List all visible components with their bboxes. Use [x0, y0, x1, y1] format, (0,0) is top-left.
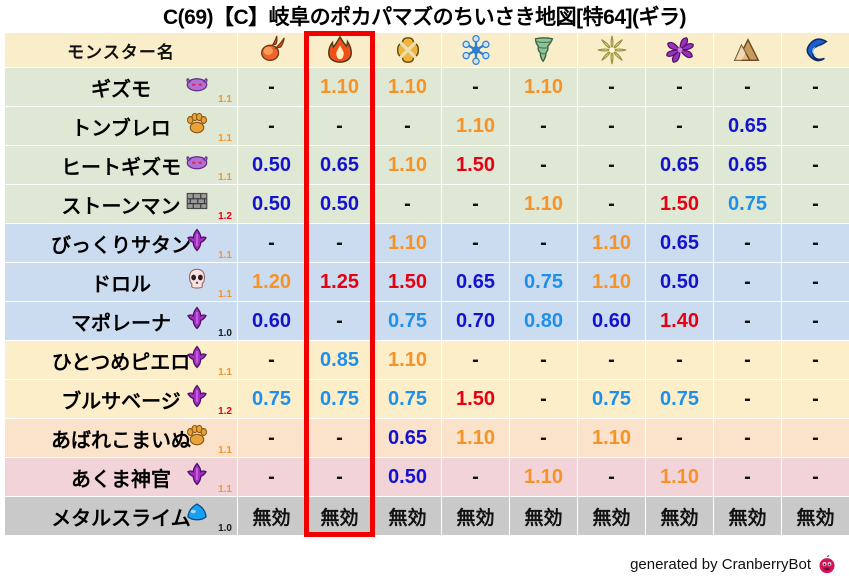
- resist-cell: -: [306, 224, 373, 262]
- resist-cell: 0.60: [578, 302, 645, 340]
- monster-name-cell[interactable]: ひとつめピエロ1.1: [5, 341, 237, 379]
- resist-cell: 1.25: [306, 263, 373, 301]
- resist-cell: 無効: [510, 497, 577, 535]
- resist-cell: 0.80: [510, 302, 577, 340]
- brick-icon: [185, 189, 209, 213]
- resist-cell: -: [442, 341, 509, 379]
- resist-cell: -: [238, 341, 305, 379]
- resist-cell: -: [238, 224, 305, 262]
- wave-icon: [801, 35, 831, 65]
- resist-cell: -: [306, 107, 373, 145]
- monster-name-label: ギズモ: [91, 79, 151, 101]
- resist-cell: 1.10: [374, 341, 441, 379]
- monster-name-cell[interactable]: ブルサベージ1.2: [5, 380, 237, 418]
- monster-version-label: 1.1: [218, 134, 232, 144]
- cranberry-icon: [817, 554, 837, 574]
- resist-cell: 1.40: [646, 302, 713, 340]
- resist-cell: -: [238, 68, 305, 106]
- table-row[interactable]: びっくりサタン1.1--1.10--1.100.65--: [5, 224, 849, 262]
- monster-name-label: びっくりサタン: [51, 235, 191, 257]
- resist-cell: 0.75: [714, 185, 781, 223]
- resist-cell: 1.10: [510, 458, 577, 496]
- monster-name-cell[interactable]: あくま神官1.1: [5, 458, 237, 496]
- resist-cell: -: [578, 68, 645, 106]
- footer: generated by CranberryBot: [630, 551, 837, 577]
- monster-name-cell[interactable]: マポレーナ1.0: [5, 302, 237, 340]
- resist-cell: -: [578, 107, 645, 145]
- monster-name-cell[interactable]: トンブレロ1.1: [5, 107, 237, 145]
- resist-cell: -: [646, 107, 713, 145]
- resist-cell: -: [578, 341, 645, 379]
- monster-name-label: メタルスライム: [51, 508, 191, 530]
- resist-cell: 無効: [714, 497, 781, 535]
- table-row[interactable]: ギズモ1.1-1.101.10-1.10----: [5, 68, 849, 106]
- resist-cell: -: [646, 419, 713, 457]
- resist-cell: -: [782, 263, 849, 301]
- table-row[interactable]: あくま神官1.1--0.50-1.10-1.10--: [5, 458, 849, 496]
- resist-cell: 1.10: [578, 224, 645, 262]
- mountain-icon: [733, 35, 763, 65]
- header-element-2[interactable]: [374, 33, 441, 67]
- resist-cell: -: [238, 419, 305, 457]
- demon-icon: [185, 384, 209, 408]
- resist-cell: -: [782, 146, 849, 184]
- resist-cell: 0.75: [374, 302, 441, 340]
- resist-cell: 0.50: [238, 146, 305, 184]
- resist-cell: -: [306, 302, 373, 340]
- resist-cell: 0.65: [374, 419, 441, 457]
- monster-name-cell[interactable]: びっくりサタン1.1: [5, 224, 237, 262]
- resist-cell: 0.50: [374, 458, 441, 496]
- resist-cell: -: [306, 458, 373, 496]
- resist-cell: 1.50: [374, 263, 441, 301]
- resist-cell: -: [782, 224, 849, 262]
- monster-version-label: 1.1: [218, 290, 232, 300]
- header-element-7[interactable]: [714, 33, 781, 67]
- resist-cell: -: [238, 107, 305, 145]
- header-element-3[interactable]: [442, 33, 509, 67]
- monster-name-cell[interactable]: ドロル1.1: [5, 263, 237, 301]
- resist-cell: 0.65: [306, 146, 373, 184]
- resist-cell: -: [782, 419, 849, 457]
- resist-cell: -: [442, 458, 509, 496]
- demon-icon: [185, 228, 209, 252]
- resist-cell: -: [510, 224, 577, 262]
- resist-cell: -: [782, 380, 849, 418]
- resist-cell: -: [510, 419, 577, 457]
- monster-version-label: 1.1: [218, 368, 232, 378]
- resist-cell: 無効: [646, 497, 713, 535]
- resist-cell: 0.65: [442, 263, 509, 301]
- resist-cell: -: [714, 224, 781, 262]
- header-element-1[interactable]: [306, 33, 373, 67]
- resist-cell: 1.10: [510, 68, 577, 106]
- table-row[interactable]: マポレーナ1.00.60-0.750.700.800.601.40--: [5, 302, 849, 340]
- fireball-icon: [257, 35, 287, 65]
- resist-cell: 1.10: [646, 458, 713, 496]
- monster-name-label: ひとつめピエロ: [52, 352, 191, 374]
- monster-name-cell[interactable]: メタルスライム1.0: [5, 497, 237, 535]
- resist-cell: 1.10: [374, 224, 441, 262]
- monster-name-label: マポレーナ: [71, 313, 171, 335]
- monster-version-label: 1.2: [218, 212, 232, 222]
- resist-cell: 0.75: [374, 380, 441, 418]
- monster-name-label: トンブレロ: [71, 118, 170, 140]
- resist-cell: -: [442, 185, 509, 223]
- demon-icon: [185, 462, 209, 486]
- resist-cell: -: [510, 146, 577, 184]
- resist-cell: 0.65: [646, 224, 713, 262]
- gizmo-icon: [185, 150, 209, 174]
- monster-version-label: 1.0: [218, 329, 232, 339]
- monster-name-label: あばれこまいぬ: [51, 430, 191, 452]
- resist-cell: -: [510, 380, 577, 418]
- resist-cell: 1.10: [374, 146, 441, 184]
- footer-text: generated by CranberryBot: [630, 556, 811, 573]
- pinwheel-icon: [665, 35, 695, 65]
- resist-cell: -: [714, 458, 781, 496]
- resist-cell: 0.60: [238, 302, 305, 340]
- resist-cell: 1.50: [646, 185, 713, 223]
- resist-cell: -: [510, 341, 577, 379]
- table-row[interactable]: ドロル1.11.201.251.500.650.751.100.50--: [5, 263, 849, 301]
- flame-icon: [325, 35, 355, 65]
- resist-cell: 0.85: [306, 341, 373, 379]
- paw-icon: [185, 111, 209, 135]
- monster-name-label: ブルサベージ: [61, 391, 181, 413]
- resist-cell: -: [782, 107, 849, 145]
- resist-cell: 0.75: [646, 380, 713, 418]
- resist-cell: -: [782, 302, 849, 340]
- resist-cell: 無効: [578, 497, 645, 535]
- monster-name-label: ヒートギズモ: [61, 157, 181, 179]
- monster-version-label: 1.1: [218, 485, 232, 495]
- header-element-0[interactable]: [238, 33, 305, 67]
- resist-cell: -: [374, 185, 441, 223]
- resist-cell: 0.75: [578, 380, 645, 418]
- monster-version-label: 1.1: [218, 251, 232, 261]
- resist-cell: -: [646, 68, 713, 106]
- resist-cell: 0.65: [714, 146, 781, 184]
- resist-cell: 0.50: [238, 185, 305, 223]
- snowflake-icon: [461, 35, 491, 65]
- monster-version-label: 1.1: [218, 446, 232, 456]
- resist-cell: -: [714, 341, 781, 379]
- monster-name-cell[interactable]: ヒートギズモ1.1: [5, 146, 237, 184]
- table-row[interactable]: ブルサベージ1.20.750.750.751.50-0.750.75--: [5, 380, 849, 418]
- monster-version-label: 1.1: [218, 95, 232, 105]
- resist-cell: -: [714, 68, 781, 106]
- resist-cell: 1.10: [374, 68, 441, 106]
- table-row[interactable]: ヒートギズモ1.10.500.651.101.50--0.650.65-: [5, 146, 849, 184]
- paw-icon: [185, 423, 209, 447]
- explosion-icon: [393, 35, 423, 65]
- monster-name-cell[interactable]: あばれこまいぬ1.1: [5, 419, 237, 457]
- resist-cell: -: [782, 68, 849, 106]
- resistance-table: モンスター名ギズモ1.1-1.101.10-1.10----トンブレロ1.1--…: [4, 32, 849, 536]
- resist-cell: 1.50: [442, 380, 509, 418]
- resist-cell: 1.10: [306, 68, 373, 106]
- resist-cell: -: [714, 263, 781, 301]
- resist-cell: 1.10: [510, 185, 577, 223]
- header-element-8[interactable]: [782, 33, 849, 67]
- table-row[interactable]: メタルスライム1.0無効無効無効無効無効無効無効無効無効: [5, 497, 849, 535]
- resistance-table-container: モンスター名ギズモ1.1-1.101.10-1.10----トンブレロ1.1--…: [4, 32, 845, 536]
- table-row[interactable]: ストーンマン1.20.500.50--1.10-1.500.75-: [5, 185, 849, 223]
- demon-icon: [185, 306, 209, 330]
- table-row[interactable]: トンブレロ1.1---1.10---0.65-: [5, 107, 849, 145]
- resist-cell: -: [578, 185, 645, 223]
- resist-cell: 無効: [238, 497, 305, 535]
- header-element-4[interactable]: [510, 33, 577, 67]
- resist-cell: 無効: [306, 497, 373, 535]
- resist-cell: 1.10: [578, 263, 645, 301]
- page-title: C(69)【C】岐阜のポカパマズのちいさき地図[特64](ギラ): [0, 0, 849, 32]
- resist-cell: 1.20: [238, 263, 305, 301]
- demon-icon: [185, 345, 209, 369]
- resist-cell: 0.65: [646, 146, 713, 184]
- sparkle-icon: [597, 35, 627, 65]
- resist-cell: 1.10: [578, 419, 645, 457]
- monster-name-cell[interactable]: ギズモ1.1: [5, 68, 237, 106]
- resist-cell: 無効: [782, 497, 849, 535]
- header-monster-name: モンスター名: [5, 33, 237, 67]
- resist-cell: 1.10: [442, 419, 509, 457]
- skull-icon: [185, 267, 209, 291]
- tornado-icon: [529, 35, 559, 65]
- gizmo-icon: [185, 72, 209, 96]
- resist-cell: -: [782, 458, 849, 496]
- resist-cell: -: [306, 419, 373, 457]
- monster-name-label: ストーンマン: [62, 196, 181, 218]
- resist-cell: 0.50: [646, 263, 713, 301]
- table-header-row: モンスター名: [5, 33, 849, 67]
- monster-version-label: 1.2: [218, 407, 232, 417]
- resist-cell: 無効: [442, 497, 509, 535]
- monster-version-label: 1.0: [218, 524, 232, 534]
- resist-cell: -: [714, 419, 781, 457]
- resist-cell: -: [442, 224, 509, 262]
- monster-name-cell[interactable]: ストーンマン1.2: [5, 185, 237, 223]
- resist-cell: 0.75: [510, 263, 577, 301]
- resist-cell: 0.75: [238, 380, 305, 418]
- resist-cell: -: [238, 458, 305, 496]
- slime-icon: [185, 501, 209, 525]
- table-row[interactable]: あばれこまいぬ1.1--0.651.10-1.10---: [5, 419, 849, 457]
- resist-cell: -: [578, 458, 645, 496]
- resist-cell: -: [714, 302, 781, 340]
- monster-name-label: あくま神官: [71, 469, 171, 491]
- resist-cell: -: [442, 68, 509, 106]
- table-row[interactable]: ひとつめピエロ1.1-0.851.10------: [5, 341, 849, 379]
- resist-cell: 0.65: [714, 107, 781, 145]
- resist-cell: 0.50: [306, 185, 373, 223]
- resist-cell: 無効: [374, 497, 441, 535]
- monster-version-label: 1.1: [218, 173, 232, 183]
- resist-cell: -: [782, 341, 849, 379]
- resist-cell: 0.75: [306, 380, 373, 418]
- resist-cell: 0.70: [442, 302, 509, 340]
- header-element-5[interactable]: [578, 33, 645, 67]
- resist-cell: -: [782, 185, 849, 223]
- resist-cell: 1.50: [442, 146, 509, 184]
- resist-cell: -: [578, 146, 645, 184]
- resist-cell: -: [646, 341, 713, 379]
- resist-cell: -: [510, 107, 577, 145]
- resist-cell: 1.10: [442, 107, 509, 145]
- resist-cell: -: [714, 380, 781, 418]
- monster-name-label: ドロル: [91, 274, 151, 296]
- resist-cell: -: [374, 107, 441, 145]
- header-element-6[interactable]: [646, 33, 713, 67]
